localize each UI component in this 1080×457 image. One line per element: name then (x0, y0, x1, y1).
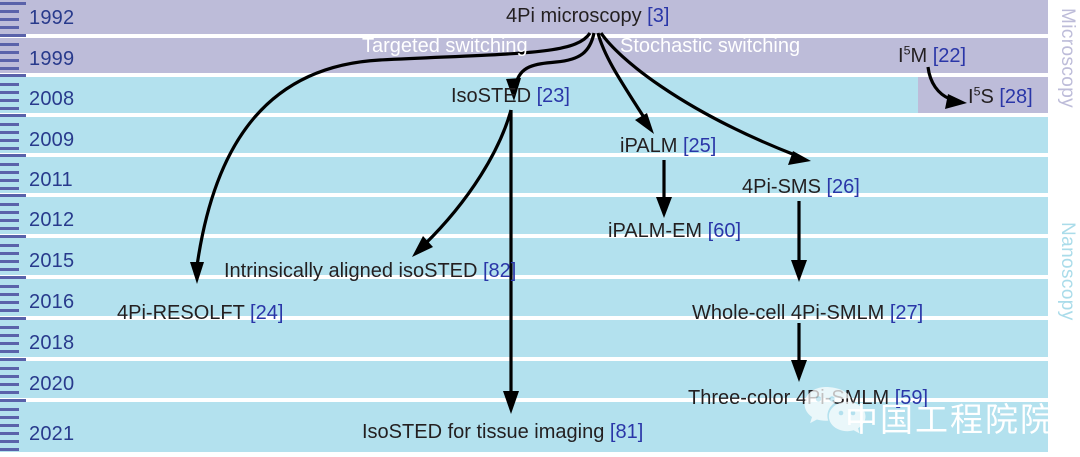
node-reference[interactable]: [60] (708, 220, 741, 242)
year-label-2011: 2011 (29, 169, 73, 192)
node-label-2: S (980, 86, 993, 108)
node-intrinsically-aligned-isosted[interactable]: Intrinsically aligned isoSTED [82] (224, 261, 516, 281)
band-2015 (0, 238, 1048, 275)
node-reference[interactable]: [24] (250, 302, 283, 324)
node-label: IsoSTED (451, 85, 531, 107)
node-ipalm-em[interactable]: iPALM-EM [60] (608, 221, 741, 241)
year-label-2009: 2009 (29, 129, 74, 152)
watermark-text: 中国工程院院刊 (845, 393, 1080, 441)
node-i5m[interactable]: I5M [22] (898, 46, 966, 66)
year-label-2021: 2021 (29, 423, 74, 446)
node-isosted-for-tissue-imaging[interactable]: IsoSTED for tissue imaging [81] (362, 422, 643, 442)
node-label: IsoSTED for tissue imaging (362, 421, 604, 443)
year-label-2008: 2008 (29, 88, 74, 111)
year-label-1999: 1999 (29, 48, 74, 71)
node-reference[interactable]: [82] (483, 260, 516, 282)
caption-targeted-switching: Targeted switching (362, 36, 528, 56)
year-label-2020: 2020 (29, 373, 74, 396)
band-2009 (0, 117, 1048, 153)
node-4pi-resolft[interactable]: 4Pi-RESOLFT [24] (117, 303, 283, 323)
era-label-microscopy: Microscopy (1056, 8, 1078, 108)
year-label-1992: 1992 (29, 7, 74, 30)
node-label: 4Pi microscopy (506, 5, 642, 27)
node-reference[interactable]: [28] (999, 86, 1032, 108)
band-2011 (0, 157, 1048, 193)
node-label: Intrinsically aligned isoSTED (224, 260, 477, 282)
caption-stochastic-switching: Stochastic switching (620, 36, 800, 56)
node-label: 4Pi-RESOLFT (117, 302, 244, 324)
node-label: Whole-cell 4Pi-SMLM (692, 302, 884, 324)
node-label-2: M (910, 45, 927, 67)
node-reference[interactable]: [22] (933, 45, 966, 67)
year-axis (0, 0, 26, 457)
node-reference[interactable]: [23] (537, 85, 570, 107)
node-label: iPALM-EM (608, 220, 702, 242)
node-label: 4Pi-SMS (742, 176, 821, 198)
node-label: iPALM (620, 135, 677, 157)
node-reference[interactable]: [81] (610, 421, 643, 443)
year-label-2016: 2016 (29, 291, 74, 314)
node-reference[interactable]: [3] (647, 5, 669, 27)
year-label-2015: 2015 (29, 250, 74, 273)
band-2018 (0, 320, 1048, 357)
node-4pi-microscopy[interactable]: 4Pi microscopy [3] (506, 6, 669, 26)
year-label-2018: 2018 (29, 332, 74, 355)
node-reference[interactable]: [26] (826, 176, 859, 198)
node-reference[interactable]: [27] (890, 302, 923, 324)
node-ipalm[interactable]: iPALM [25] (620, 136, 716, 156)
node-i5s[interactable]: I5S [28] (968, 87, 1033, 107)
year-label-2012: 2012 (29, 209, 74, 232)
node-4pi-sms[interactable]: 4Pi-SMS [26] (742, 177, 860, 197)
node-whole-cell-4pi-smlm[interactable]: Whole-cell 4Pi-SMLM [27] (692, 303, 923, 323)
era-label-nanoscopy: Nanoscopy (1056, 222, 1078, 321)
node-reference[interactable]: [25] (683, 135, 716, 157)
band-2012 (0, 197, 1048, 234)
node-isosted[interactable]: IsoSTED [23] (451, 86, 570, 106)
timeline-diagram: 1992 1999 2008 2009 2011 2012 2015 2016 … (0, 0, 1080, 457)
